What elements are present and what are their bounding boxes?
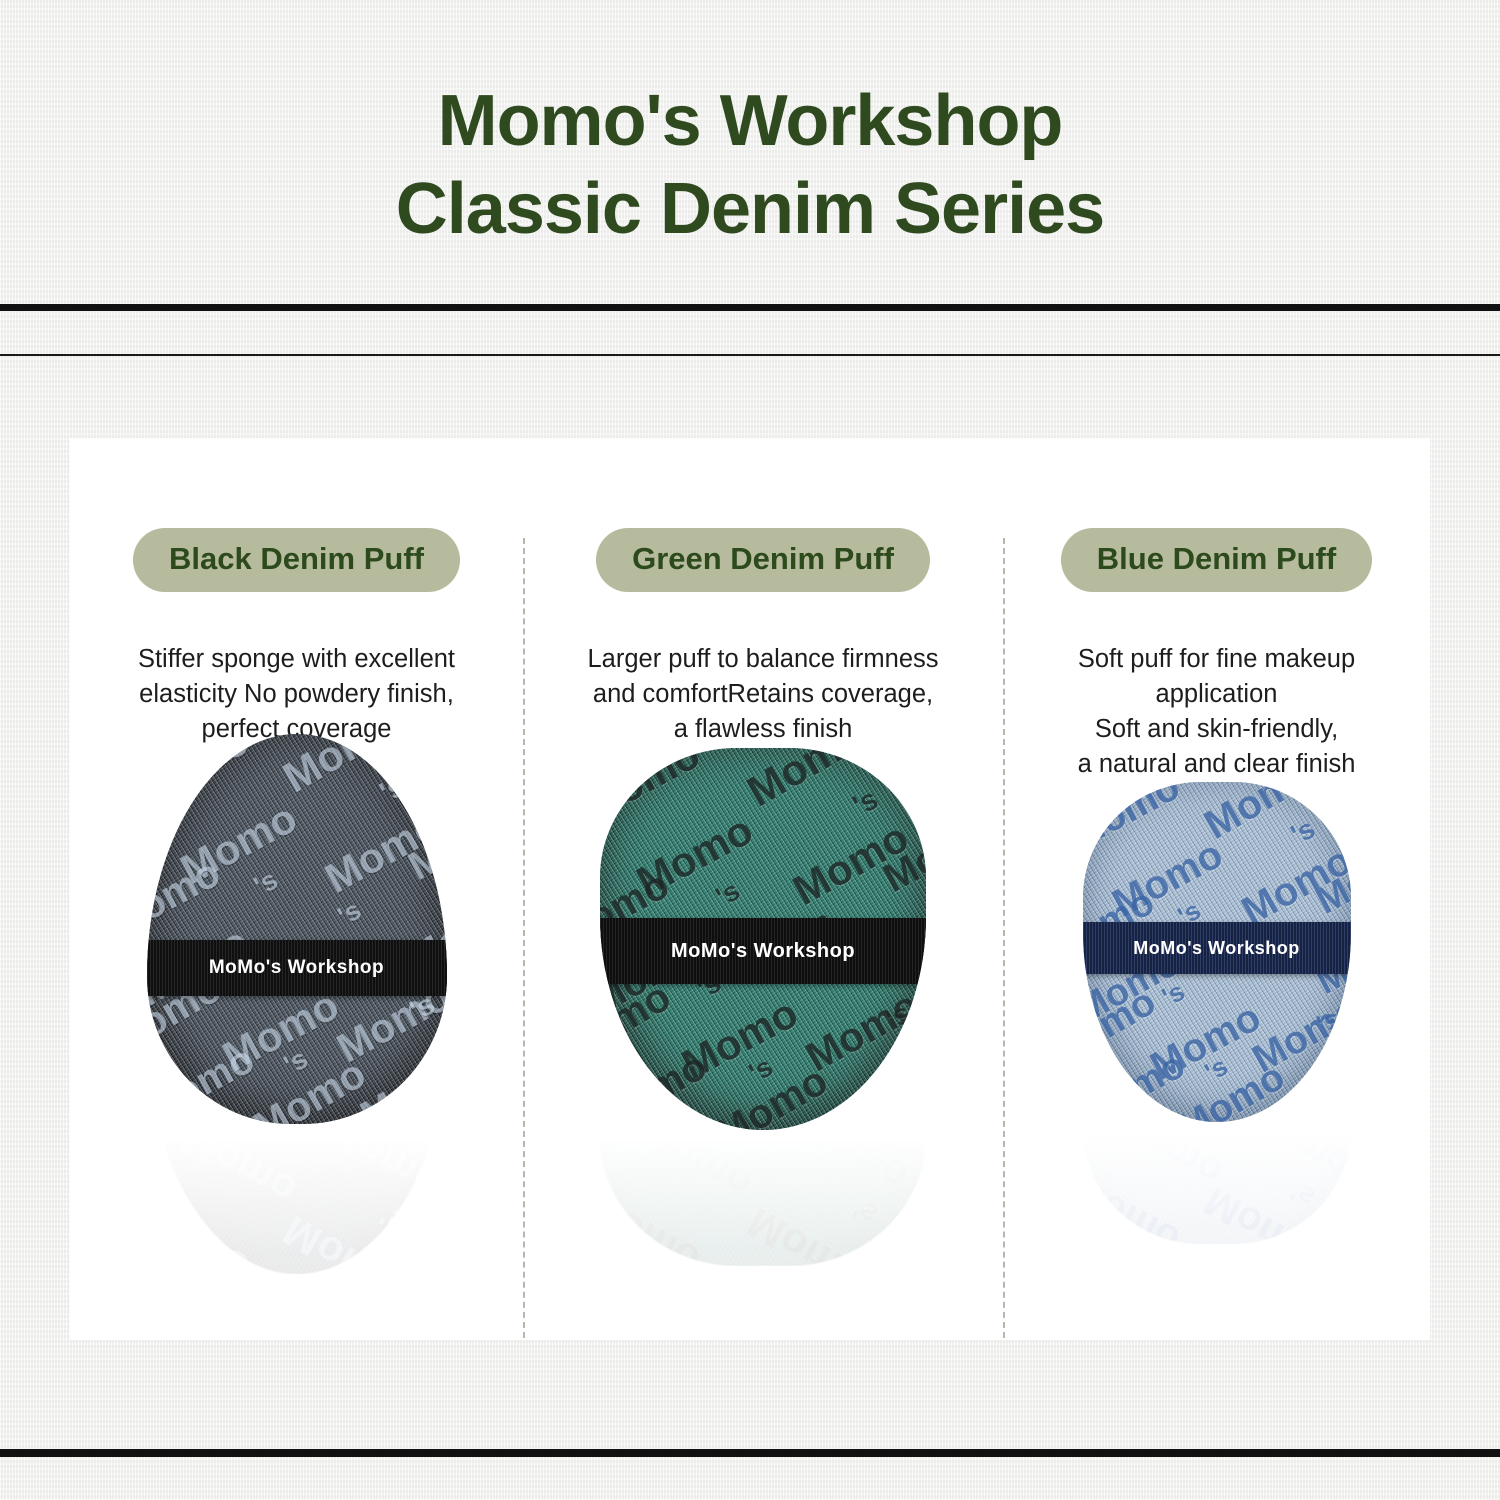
- page-title: Momo's Workshop Classic Denim Series: [0, 78, 1500, 254]
- puff-reflection-black: MomoMomo's'sMomoMomoMomo'sMomo'sMomoMomo…: [147, 1124, 447, 1274]
- page-title-line-2: Classic Denim Series: [0, 166, 1500, 254]
- infographic-page: Momo's Workshop Classic Denim Series Bla…: [0, 0, 1500, 1500]
- denim-weave-texture: [147, 734, 447, 1124]
- product-strap-black: MoMo's Workshop: [147, 940, 447, 996]
- puff-image-blue: MomoMomo's'sMomoMomoMomo'sMomo'sMomoMomo…: [1083, 782, 1351, 1122]
- product-strap-blue: MoMo's Workshop: [1083, 922, 1351, 974]
- puff-reflection-green: MomoMomo's'sMomoMomoMomo'sMomo'sMomoMomo…: [600, 1126, 926, 1266]
- strap-label-blue: MoMo's Workshop: [1133, 938, 1299, 959]
- product-strap-green: MoMo's Workshop: [600, 918, 926, 984]
- product-image-stage-black: MomoMomo's'sMomoMomoMomo'sMomo'sMomoMomo…: [70, 820, 523, 1340]
- product-comparison-card: Black Denim Puff Stiffer sponge with exc…: [70, 438, 1430, 1340]
- product-column-blue[interactable]: Blue Denim Puff Soft puff for fine makeu…: [1003, 438, 1430, 1340]
- product-image-stage-blue: MomoMomo's'sMomoMomoMomo'sMomo'sMomoMomo…: [1003, 820, 1430, 1340]
- product-description-black: Stiffer sponge with excellent elasticity…: [70, 642, 523, 747]
- strap-label-black: MoMo's Workshop: [209, 957, 384, 979]
- footer-divider-thick: [0, 1449, 1500, 1457]
- puff-image-black: MomoMomo's'sMomoMomoMomo'sMomo'sMomoMomo…: [147, 734, 447, 1124]
- product-badge-black: Black Denim Puff: [133, 528, 460, 592]
- page-title-line-1: Momo's Workshop: [0, 78, 1500, 166]
- strap-label-green: MoMo's Workshop: [671, 940, 855, 963]
- header-divider-thin: [0, 354, 1500, 356]
- product-description-blue: Soft puff for fine makeup application So…: [1003, 642, 1430, 782]
- product-column-green[interactable]: Green Denim Puff Larger puff to balance …: [523, 438, 1003, 1340]
- product-badge-green: Green Denim Puff: [596, 528, 930, 592]
- product-badge-blue: Blue Denim Puff: [1061, 528, 1372, 592]
- product-image-stage-green: MomoMomo's'sMomoMomoMomo'sMomo'sMomoMomo…: [523, 820, 1003, 1340]
- header-divider-thick: [0, 304, 1500, 311]
- product-column-black[interactable]: Black Denim Puff Stiffer sponge with exc…: [70, 438, 523, 1340]
- puff-reflection-blue: MomoMomo's'sMomoMomoMomo'sMomo'sMomoMomo…: [1083, 1124, 1351, 1244]
- product-description-green: Larger puff to balance firmness and comf…: [523, 642, 1003, 747]
- puff-image-green: MomoMomo's'sMomoMomoMomo'sMomo'sMomoMomo…: [600, 748, 926, 1130]
